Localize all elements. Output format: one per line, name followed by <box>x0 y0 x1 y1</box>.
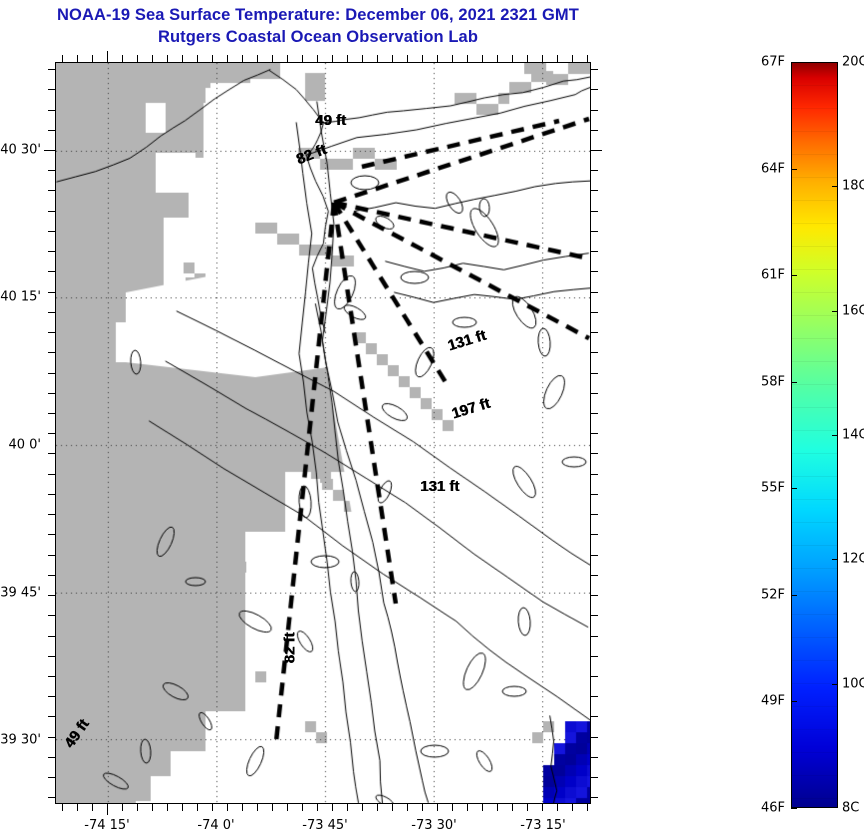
x-tick <box>572 804 573 811</box>
x-tick-top <box>497 55 498 62</box>
y-tick-right <box>591 89 598 90</box>
y-tick-right <box>591 696 598 697</box>
x-tick <box>152 804 153 811</box>
y-tick-right <box>591 737 598 738</box>
x-tick <box>392 804 393 811</box>
colorbar-tick-c <box>832 186 838 187</box>
y-tick <box>48 555 55 556</box>
y-tick <box>48 312 55 313</box>
x-tick <box>287 804 288 811</box>
x-tick <box>527 804 528 811</box>
x-tick-top <box>467 55 468 62</box>
colorbar-label-c: 12C <box>842 552 864 567</box>
colorbar-label-c: 8C <box>842 801 859 816</box>
y-tick-right <box>591 534 598 535</box>
colorbar-label-f: 46F <box>761 801 785 816</box>
y-tick-right <box>591 271 598 272</box>
colorbar-tick-f <box>791 488 797 489</box>
colorbar-celsius-labels: 20C18C16C14C12C10C8C <box>842 62 864 808</box>
y-tick <box>48 69 55 70</box>
x-tick-top <box>452 55 453 62</box>
x-axis-label: -73 30' <box>411 818 456 833</box>
y-axis-label: 40 0' <box>0 438 41 453</box>
y-tick <box>48 110 55 111</box>
x-tick <box>122 804 123 811</box>
x-tick <box>512 804 513 811</box>
y-tick <box>48 494 55 495</box>
y-tick <box>48 89 55 90</box>
x-tick-top <box>197 55 198 62</box>
y-tick-right <box>591 393 598 394</box>
x-tick-top <box>122 55 123 62</box>
x-tick <box>557 804 558 811</box>
y-tick-right <box>591 595 598 596</box>
x-tick <box>212 804 213 811</box>
x-tick-top <box>392 55 393 62</box>
x-tick-top <box>527 55 528 62</box>
x-tick <box>482 804 483 811</box>
x-tick <box>407 804 408 811</box>
title-line-2: Rutgers Coastal Ocean Observation Lab <box>0 26 636 48</box>
colorbar-tick-f <box>791 275 797 276</box>
y-tick-right <box>591 555 598 556</box>
colorbar-tick-c <box>832 684 838 685</box>
x-tick-top <box>317 55 318 62</box>
y-tick <box>48 636 55 637</box>
x-tick <box>227 804 228 811</box>
y-tick-right <box>591 251 598 252</box>
y-tick <box>44 150 55 151</box>
y-tick <box>48 292 55 293</box>
colorbar-label-f: 49F <box>761 694 785 709</box>
depth-contour-label: 82 ft <box>282 633 299 664</box>
x-tick-top <box>137 55 138 62</box>
x-tick <box>137 804 138 811</box>
x-tick-top <box>152 55 153 62</box>
y-tick <box>48 534 55 535</box>
x-tick-top <box>302 55 303 62</box>
y-tick-right <box>591 373 598 374</box>
y-tick-right <box>591 797 598 798</box>
depth-contour-label: 49 ft <box>315 112 346 129</box>
y-tick <box>48 777 55 778</box>
colorbar-label-c: 20C <box>842 55 864 70</box>
y-tick <box>48 433 55 434</box>
x-tick <box>317 804 318 811</box>
y-tick-right <box>591 130 598 131</box>
x-tick <box>452 804 453 811</box>
y-tick <box>48 332 55 333</box>
x-tick-top <box>257 55 258 62</box>
y-tick <box>48 737 55 738</box>
x-tick <box>437 804 438 811</box>
colorbar-label-c: 10C <box>842 676 864 691</box>
y-tick <box>48 615 55 616</box>
y-tick <box>48 413 55 414</box>
x-tick <box>182 804 183 811</box>
x-tick-top <box>512 55 513 62</box>
x-tick-top <box>437 55 438 62</box>
y-tick <box>48 676 55 677</box>
x-tick-top <box>482 55 483 62</box>
colorbar-label-f: 58F <box>761 374 785 389</box>
y-tick <box>48 595 55 596</box>
x-tick <box>467 804 468 811</box>
x-tick <box>242 804 243 811</box>
y-tick <box>48 453 55 454</box>
x-tick <box>362 804 363 811</box>
x-tick-top <box>92 55 93 62</box>
y-tick <box>48 393 55 394</box>
y-tick-right <box>591 453 598 454</box>
y-tick-right <box>591 413 598 414</box>
x-tick <box>107 804 108 815</box>
x-tick <box>347 804 348 811</box>
x-axis-label: -74 15' <box>84 818 129 833</box>
colorbar[interactable] <box>791 62 838 808</box>
y-tick-right <box>591 676 598 677</box>
x-tick <box>77 804 78 811</box>
x-tick-top <box>587 55 588 62</box>
y-axis-label: 40 30' <box>0 143 41 158</box>
y-tick-right <box>591 494 598 495</box>
x-tick-top <box>167 55 168 62</box>
y-tick <box>48 170 55 171</box>
x-tick-top <box>62 55 63 62</box>
y-tick <box>48 352 55 353</box>
colorbar-label-f: 61F <box>761 268 785 283</box>
x-tick <box>542 804 543 811</box>
colorbar-tick-f <box>791 701 797 702</box>
x-tick-top <box>212 55 213 62</box>
y-tick-right <box>591 332 598 333</box>
colorbar-tick-f <box>791 595 797 596</box>
title-line-1: NOAA-19 Sea Surface Temperature: Decembe… <box>0 4 636 26</box>
x-tick-top <box>407 55 408 62</box>
y-tick <box>48 656 55 657</box>
y-tick-right <box>591 110 598 111</box>
x-tick <box>167 804 168 811</box>
y-tick-right <box>591 514 598 515</box>
x-tick-top <box>272 55 273 62</box>
x-tick <box>422 804 423 811</box>
y-tick <box>48 271 55 272</box>
y-tick-right <box>591 69 598 70</box>
y-tick-right <box>591 150 602 151</box>
y-tick <box>48 231 55 232</box>
y-tick <box>48 575 55 576</box>
colorbar-fahrenheit-labels: 67F64F61F58F55F52F49F46F <box>741 62 785 808</box>
x-tick <box>497 804 498 811</box>
colorbar-label-f: 67F <box>761 55 785 70</box>
x-tick-top <box>107 51 108 62</box>
colorbar-label-f: 64F <box>761 161 785 176</box>
y-tick <box>48 716 55 717</box>
y-tick <box>48 696 55 697</box>
sst-map-canvas <box>56 63 590 803</box>
colorbar-tick-f <box>791 382 797 383</box>
colorbar-label-c: 16C <box>842 303 864 318</box>
y-tick-right <box>591 292 598 293</box>
colorbar-tick-f <box>791 808 797 809</box>
x-tick <box>272 804 273 811</box>
x-tick <box>332 804 333 811</box>
x-tick-top <box>362 55 363 62</box>
x-tick <box>197 804 198 811</box>
y-tick-right <box>591 231 598 232</box>
x-tick-top <box>572 55 573 62</box>
y-tick <box>48 251 55 252</box>
colorbar-label-f: 52F <box>761 587 785 602</box>
y-tick <box>48 514 55 515</box>
x-axis-label: -73 45' <box>302 818 347 833</box>
y-tick-right <box>591 352 598 353</box>
x-tick <box>587 804 588 811</box>
y-tick <box>48 373 55 374</box>
colorbar-label-f: 55F <box>761 481 785 496</box>
y-tick-right <box>591 170 598 171</box>
x-tick-top <box>287 55 288 62</box>
x-tick-top <box>557 55 558 62</box>
x-tick-top <box>422 55 423 62</box>
y-tick <box>48 757 55 758</box>
y-tick-right <box>591 474 598 475</box>
x-axis-label: -73 15' <box>520 818 565 833</box>
y-tick-right <box>591 656 598 657</box>
x-tick-top <box>377 55 378 62</box>
colorbar-banding <box>792 63 837 807</box>
y-tick-right <box>591 636 598 637</box>
y-tick-right <box>591 757 598 758</box>
y-tick <box>48 190 55 191</box>
x-tick-top <box>227 55 228 62</box>
x-tick-top <box>242 55 243 62</box>
y-tick-right <box>591 433 598 434</box>
y-tick-right <box>591 211 598 212</box>
colorbar-tick-c <box>832 311 838 312</box>
x-tick <box>257 804 258 811</box>
x-tick-top <box>77 55 78 62</box>
y-tick-right <box>591 312 598 313</box>
x-tick-top <box>347 55 348 62</box>
y-tick-right <box>591 575 598 576</box>
x-tick <box>377 804 378 811</box>
x-tick <box>62 804 63 811</box>
colorbar-tick-c <box>832 559 838 560</box>
x-tick <box>92 804 93 811</box>
x-tick-top <box>182 55 183 62</box>
x-tick-top <box>332 55 333 62</box>
y-tick-right <box>591 190 598 191</box>
x-tick-top <box>542 55 543 62</box>
colorbar-tick-c <box>832 435 838 436</box>
x-tick <box>302 804 303 811</box>
page-title: NOAA-19 Sea Surface Temperature: Decembe… <box>0 4 636 48</box>
depth-contour-label: 131 ft <box>420 478 459 495</box>
y-axis-label: 39 30' <box>0 733 41 748</box>
y-tick-right <box>591 615 598 616</box>
colorbar-tick-f <box>791 169 797 170</box>
y-tick <box>48 211 55 212</box>
x-axis-label: -74 0' <box>197 818 234 833</box>
y-tick <box>48 474 55 475</box>
y-tick-right <box>591 777 598 778</box>
sst-map[interactable] <box>55 62 591 804</box>
y-tick <box>48 797 55 798</box>
colorbar-label-c: 14C <box>842 428 864 443</box>
y-axis-label: 39 45' <box>0 586 41 601</box>
y-tick-right <box>591 716 598 717</box>
y-tick <box>48 130 55 131</box>
colorbar-tick-f <box>791 62 797 63</box>
y-axis-label: 40 15' <box>0 290 41 305</box>
colorbar-label-c: 18C <box>842 179 864 194</box>
